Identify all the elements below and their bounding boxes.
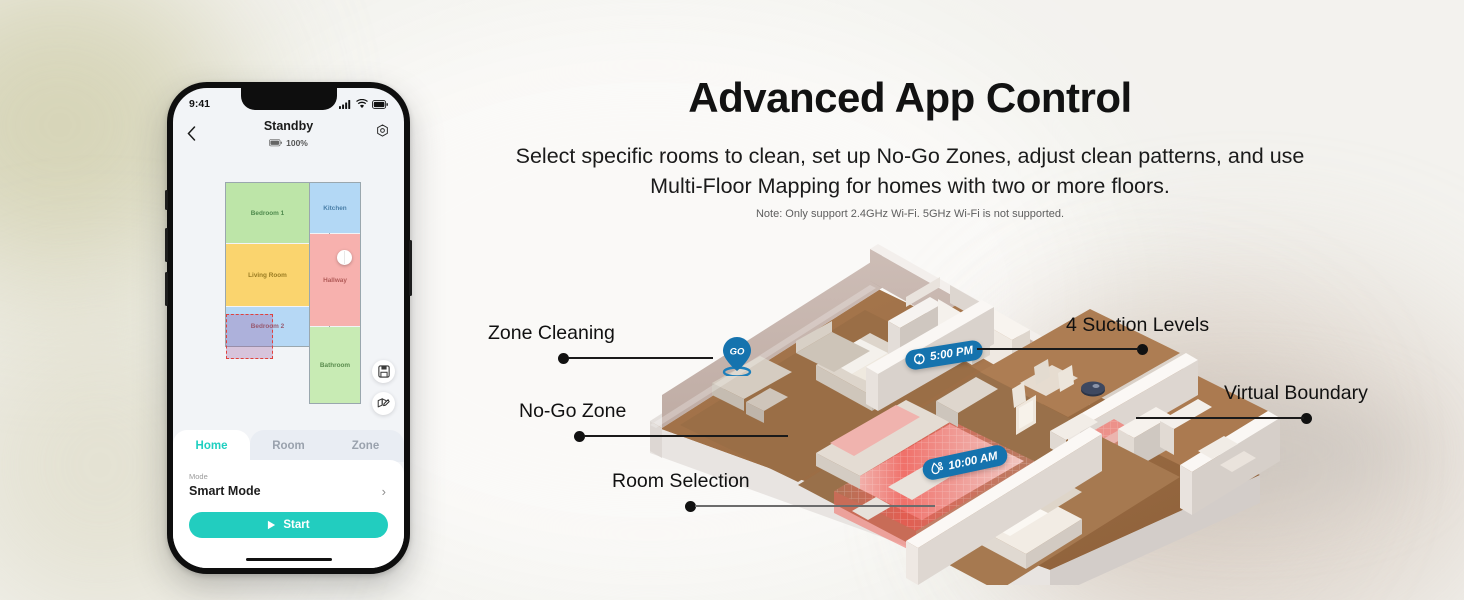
callout-zone-cleaning-line	[568, 357, 713, 359]
map-room-kitchen[interactable]: Kitchen	[310, 183, 360, 233]
go-pin-marker[interactable]: GO	[722, 336, 752, 376]
map-room-label: Bedroom 1	[251, 210, 284, 217]
page-subtitle: Select specific rooms to clean, set up N…	[470, 141, 1350, 201]
map-room-bathroom[interactable]: Bathroom	[310, 327, 360, 403]
multi-floor-map-button[interactable]	[372, 360, 395, 383]
callout-no-go-zone-label: No-Go Zone	[519, 400, 626, 423]
mode-label: Mode	[189, 472, 208, 481]
callout-no-go-zone-line	[584, 435, 788, 437]
status-time: 9:41	[189, 98, 210, 110]
phone-screen: 9:41	[173, 88, 404, 568]
subtitle-line-2: Multi-Floor Mapping for homes with two o…	[470, 171, 1350, 201]
battery-icon	[372, 100, 388, 109]
phone-mockup: 9:41	[167, 82, 410, 574]
settings-button[interactable]	[375, 124, 390, 144]
callout-virtual-boundary-label: Virtual Boundary	[1224, 382, 1368, 405]
map-room-label: Kitchen	[323, 205, 346, 212]
chevron-right-icon[interactable]: ›	[382, 484, 386, 499]
page-title: Advanced App Control	[480, 74, 1340, 122]
callout-suction-levels-line	[977, 348, 1139, 350]
callout-room-selection-label: Room Selection	[612, 470, 750, 493]
callout-zone-cleaning-label: Zone Cleaning	[488, 322, 615, 345]
wifi-icon	[356, 99, 368, 109]
tab-home[interactable]: Home	[173, 430, 250, 462]
map-room-living-room[interactable]: Living Room	[226, 244, 309, 306]
map-room-label: Bedroom 2	[251, 323, 284, 330]
map-room-label: Hallway	[323, 277, 347, 284]
floor-map-icon	[378, 365, 390, 378]
device-status-title: Standby	[173, 119, 404, 133]
battery-status: 100%	[173, 138, 404, 148]
floor-map[interactable]: Bedroom 1 Kitchen Living Room Hallway Be…	[225, 182, 361, 404]
callout-room-selection-line	[695, 505, 935, 507]
schedule-badge-vacuum-time: 5:00 PM	[929, 345, 974, 364]
subtitle-line-1: Select specific rooms to clean, set up N…	[470, 141, 1350, 171]
callout-suction-levels-label: 4 Suction Levels	[1066, 314, 1209, 337]
tab-room[interactable]: Room	[250, 430, 327, 462]
go-pin-label: GO	[730, 347, 745, 358]
start-button-label: Start	[283, 519, 309, 531]
tab-home-label: Home	[196, 440, 228, 452]
map-room-bedroom-1[interactable]: Bedroom 1	[226, 183, 309, 243]
callout-virtual-boundary-line	[1136, 417, 1304, 419]
cellular-signal-icon	[339, 100, 352, 109]
play-icon	[267, 520, 276, 530]
edit-map-button[interactable]	[372, 392, 395, 415]
gear-icon	[375, 124, 390, 139]
map-room-label: Bathroom	[320, 362, 350, 369]
phone-notch	[241, 88, 337, 110]
tab-zone-label: Zone	[352, 440, 379, 452]
control-sheet: Home Room Zone Mode Smart Mode ›	[173, 430, 404, 568]
robot-vacuum-marker[interactable]	[337, 250, 352, 265]
sheet-tabs: Home Room Zone	[173, 430, 404, 462]
mode-value[interactable]: Smart Mode	[189, 484, 261, 498]
sheet-body: Mode Smart Mode › Start	[173, 460, 404, 568]
mop-schedule-icon	[928, 460, 946, 478]
vacuum-schedule-icon	[911, 351, 927, 367]
edit-map-icon	[377, 397, 390, 410]
floorplan-3d-render	[620, 225, 1320, 585]
map-room-hallway[interactable]: Hallway	[310, 234, 360, 326]
map-no-go-zone[interactable]	[226, 314, 273, 359]
tab-zone[interactable]: Zone	[327, 430, 404, 462]
callout-room-selection-dot	[685, 501, 696, 512]
promo-banner: Advanced App Control Select specific roo…	[0, 0, 1464, 600]
tab-room-label: Room	[272, 440, 305, 452]
app-header: Standby 100%	[173, 116, 404, 162]
map-view[interactable]: Bedroom 1 Kitchen Living Room Hallway Be…	[173, 164, 404, 432]
home-indicator	[246, 558, 332, 562]
battery-percent: 100%	[286, 138, 308, 148]
wifi-note: Note: Only support 2.4GHz Wi-Fi. 5GHz Wi…	[480, 208, 1340, 220]
battery-icon	[269, 139, 282, 147]
start-button[interactable]: Start	[189, 512, 388, 538]
map-room-label: Living Room	[248, 272, 287, 279]
